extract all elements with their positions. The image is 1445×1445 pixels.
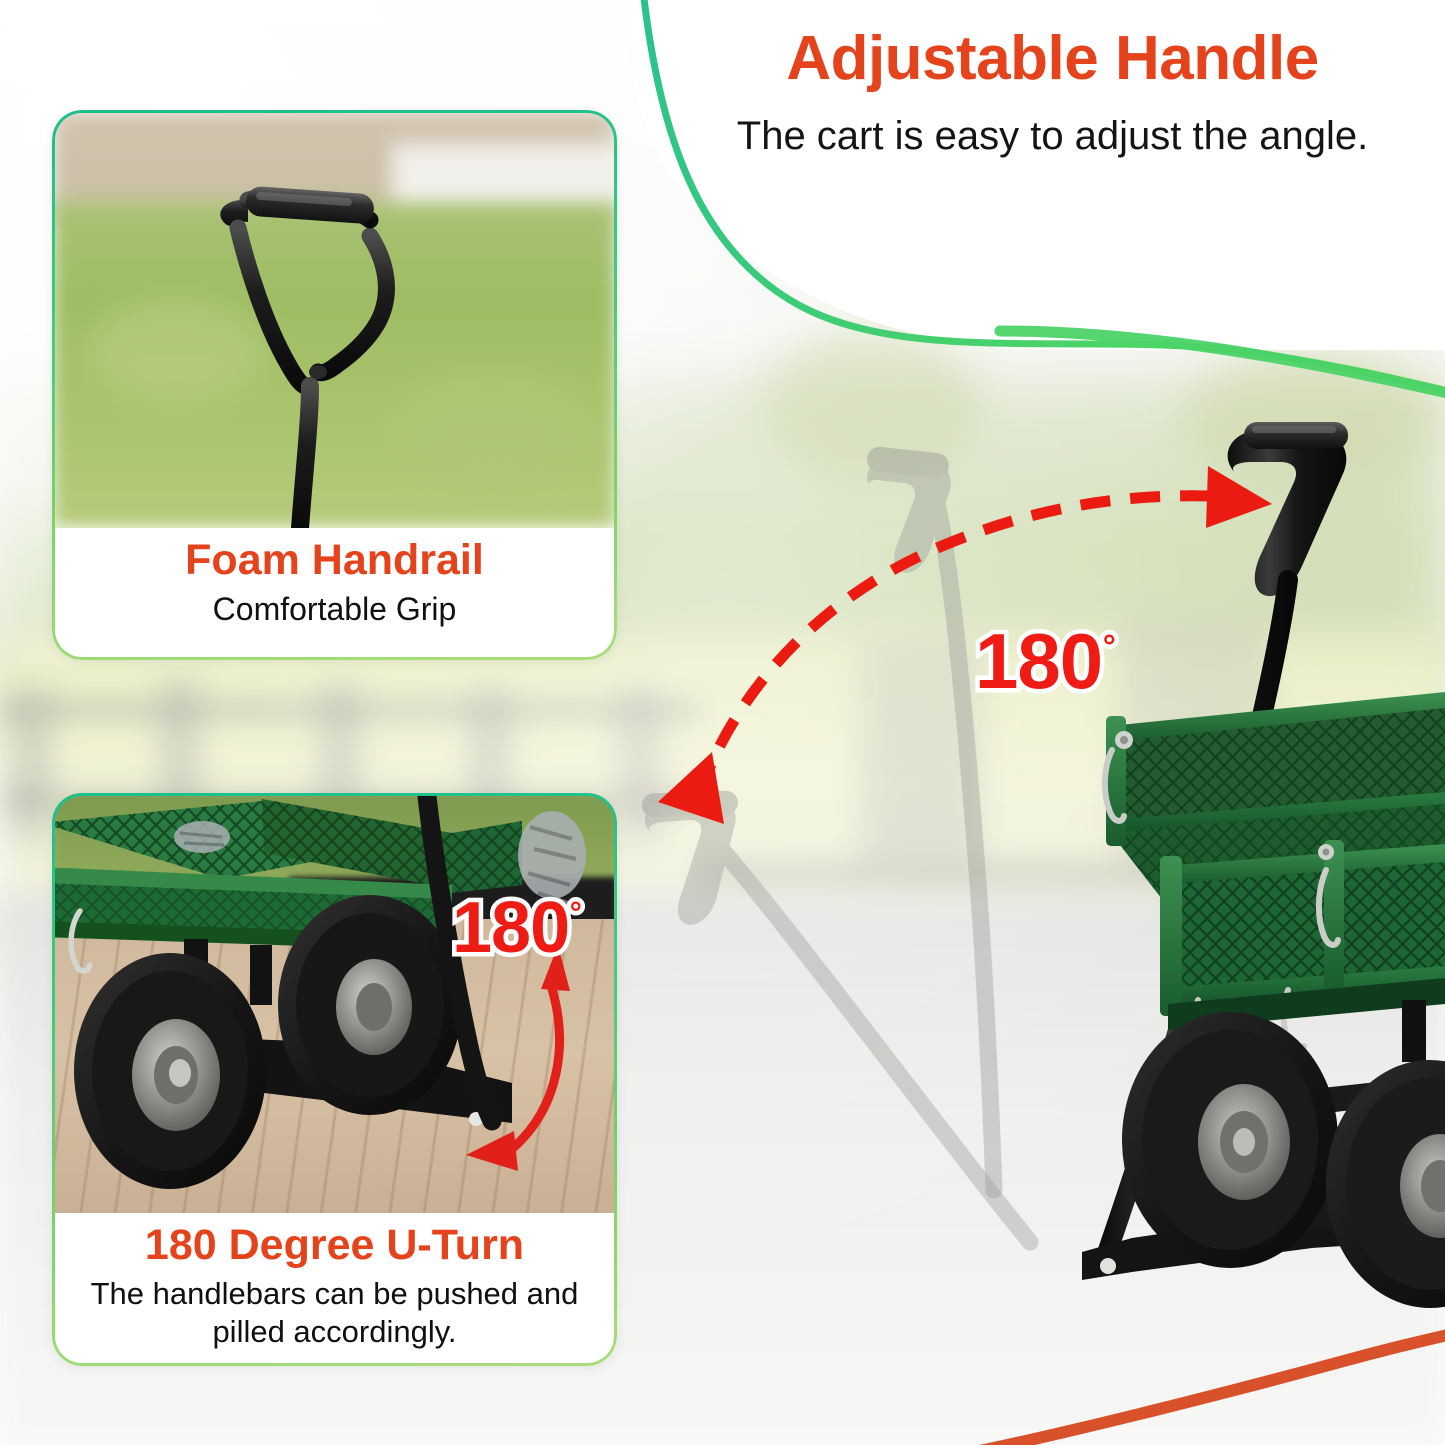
infographic-canvas: Adjustable Handle The cart is easy to ad… (0, 0, 1445, 1445)
wheel-front-left (1122, 1012, 1338, 1268)
product-illustration (612, 400, 1445, 1350)
handrail-subtitle: Comfortable Grip (62, 590, 607, 629)
cart-leg (250, 945, 272, 1005)
chain-bundle-small (174, 821, 230, 853)
wheel-right (278, 895, 462, 1115)
uturn-title: 180 Degree U-Turn (62, 1221, 607, 1269)
badge-value: 180 (452, 888, 569, 968)
uturn-photo: 180° (52, 793, 617, 1213)
handrail-handle-graphic (52, 110, 617, 528)
badge-degree: ° (1103, 627, 1115, 664)
badge-180-main: 180° (975, 622, 1114, 700)
page-title: Adjustable Handle (660, 24, 1445, 93)
feature-card-uturn[interactable]: 180° 180 Degree U-Turn The handlebars ca… (52, 793, 617, 1366)
uturn-subtitle: The handlebars can be pushed and pilled … (62, 1275, 607, 1351)
handrail-caption: Foam Handrail Comfortable Grip (52, 528, 617, 645)
uturn-cart-graphic (52, 793, 617, 1213)
uturn-caption: 180 Degree U-Turn The handlebars can be … (52, 1213, 617, 1366)
badge-value: 180 (975, 617, 1102, 705)
handrail-title: Foam Handrail (62, 536, 607, 584)
wheel-left (74, 953, 266, 1189)
cart-corner-post (1324, 840, 1344, 990)
page-subtitle: The cart is easy to adjust the angle. (660, 111, 1445, 162)
header: Adjustable Handle The cart is easy to ad… (660, 24, 1445, 163)
arc-arrow-right (1206, 466, 1272, 528)
feature-card-handrail[interactable]: Foam Handrail Comfortable Grip (52, 110, 617, 660)
badge-180-card: 180° (452, 892, 580, 964)
badge-degree: ° (570, 897, 581, 930)
cart-corner-post (1160, 856, 1182, 1016)
uturn-arrow-head-down (466, 1131, 518, 1171)
uturn-arrow (466, 945, 570, 1171)
cart-leg (1402, 1000, 1426, 1062)
ghost-handle-up (866, 446, 994, 1190)
handrail-photo (52, 110, 617, 528)
chassis-bolt (1100, 1258, 1116, 1274)
